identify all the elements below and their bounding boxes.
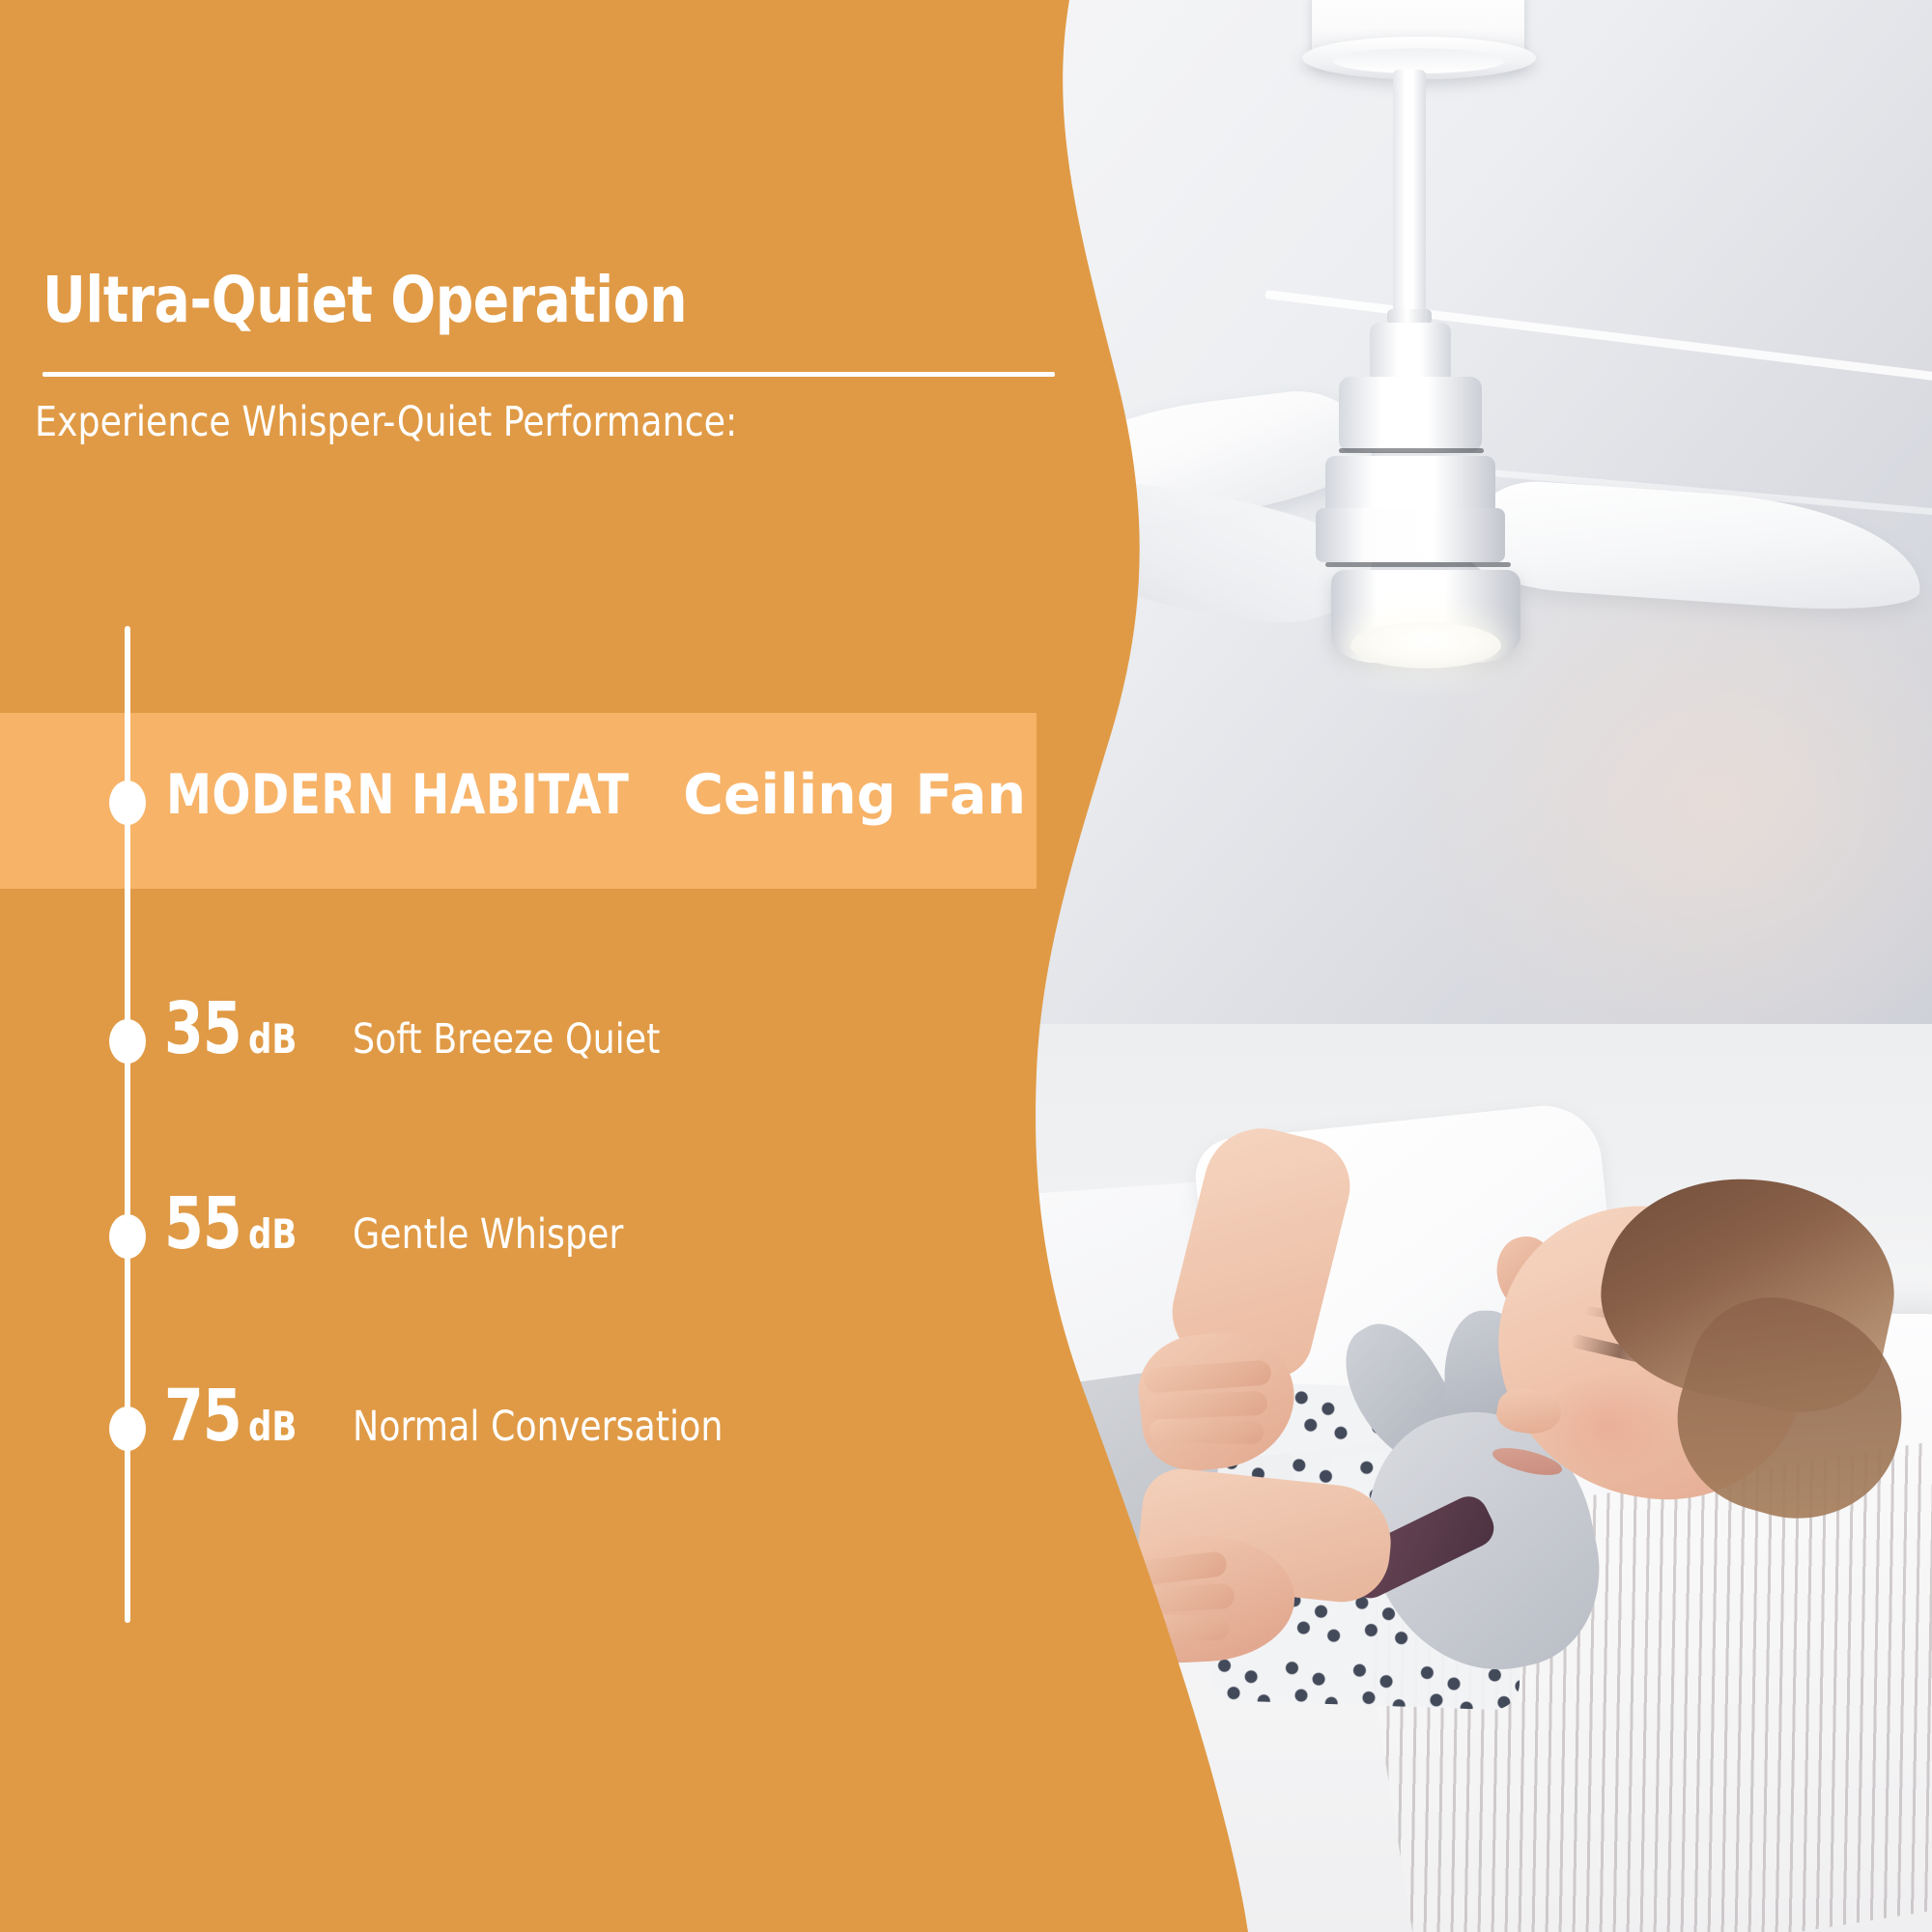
db-row-2: 75dBNormal Conversation	[164, 1375, 746, 1458]
db-unit-1: dB	[248, 1210, 297, 1258]
db-row-0: 35dBSoft Breeze Quiet	[164, 987, 679, 1070]
db-value-0: 35	[164, 987, 241, 1070]
timeline-dot-0	[109, 1019, 146, 1064]
db-value-2: 75	[164, 1375, 241, 1458]
timeline-dot-2	[109, 1406, 146, 1451]
timeline-dot-1	[109, 1214, 146, 1259]
title-divider	[43, 372, 1055, 377]
db-unit-2: dB	[248, 1403, 297, 1450]
product-brand: MODERN HABITAT	[166, 763, 629, 827]
page-title: Ultra-Quiet Operation	[43, 263, 687, 337]
db-label-2: Normal Conversation	[353, 1403, 723, 1451]
infographic-canvas: Ultra-Quiet Operation Experience Whisper…	[0, 0, 1932, 1932]
db-value-1: 55	[164, 1182, 241, 1265]
db-label-1: Gentle Whisper	[353, 1210, 623, 1259]
product-model: Ceiling Fan	[683, 763, 1026, 827]
product-name: MODERN HABITATCeiling Fan	[166, 763, 1026, 827]
panel-content: Ultra-Quiet Operation Experience Whisper…	[0, 0, 1063, 1932]
db-label-0: Soft Breeze Quiet	[353, 1015, 660, 1064]
timeline-dot-product	[109, 781, 146, 825]
db-row-1: 55dBGentle Whisper	[164, 1182, 640, 1265]
db-unit-0: dB	[248, 1015, 297, 1063]
timeline-axis	[125, 626, 130, 1623]
page-subtitle: Experience Whisper-Quiet Performance:	[35, 398, 737, 446]
